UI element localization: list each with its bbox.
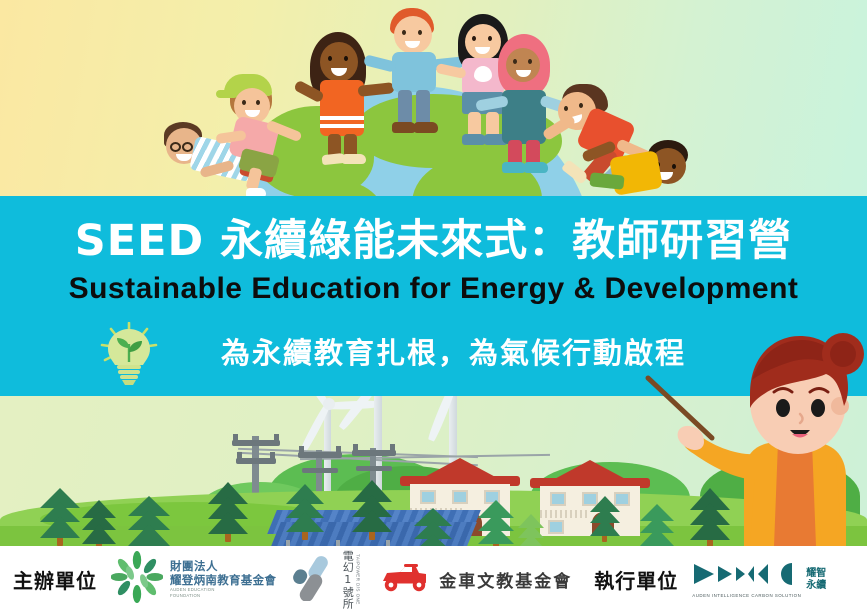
poster-root: SEED 永續綠能未來式：教師研習營 Sustainable Education… xyxy=(0,0,867,613)
foundation-line2: 耀登炳南教育基金會 xyxy=(170,574,276,588)
pine-tree xyxy=(478,500,514,546)
sponsor-footer: 主辦單位 xyxy=(0,546,867,613)
kingcar-text: 金車文教基金會 xyxy=(439,567,572,592)
foundation-english-line2: FOUNDATION xyxy=(170,593,276,599)
pine-tree xyxy=(286,484,324,538)
kingcar-foundation-logo[interactable]: 金車文教基金會 xyxy=(378,561,572,598)
page-title: SEED 永續綠能未來式：教師研習營 xyxy=(0,206,867,268)
child-boy-yellow-shirt xyxy=(612,138,732,198)
pine-tree xyxy=(208,482,248,540)
top-illustration-scene xyxy=(0,0,867,198)
page-subtitle: Sustainable Education for Energy & Devel… xyxy=(0,272,867,306)
auden-intelligence-carbon-solution-logo[interactable]: AUDEN INTELLIGENCE CARBON SOLUTION 耀智 永續 xyxy=(692,561,826,599)
pine-tree xyxy=(40,488,80,544)
taipower-dsone-logo[interactable]: 電幻1號所 TAIPOWER D/S ONE xyxy=(292,550,360,610)
executor-label: 執行單位 xyxy=(594,565,678,594)
foundation-line1: 財團法人 xyxy=(170,560,276,574)
auden-education-foundation-logo[interactable]: 財團法人 耀登炳南教育基金會 AUDEN EDUCATION FOUNDATIO… xyxy=(111,551,276,608)
taipower-english-vertical: TAIPOWER D/S ONE xyxy=(355,554,360,605)
auden-carbon-english: AUDEN INTELLIGENCE CARBON SOLUTION xyxy=(692,593,801,599)
pine-tree xyxy=(352,480,392,538)
red-vintage-car-icon xyxy=(378,561,430,598)
pine-tree xyxy=(82,500,116,546)
three-capsule-shapes-icon xyxy=(292,553,336,606)
pine-tree xyxy=(590,496,620,540)
pine-tree xyxy=(414,508,452,546)
organizer-label: 主辦單位 xyxy=(13,565,97,594)
triangle-wave-marks-icon xyxy=(692,574,796,591)
auden-carbon-chinese-line2: 永續 xyxy=(806,580,826,591)
pine-tree xyxy=(128,496,170,546)
taipower-chinese-vertical: 電幻1號所 xyxy=(341,550,353,610)
pine-tree xyxy=(518,514,544,546)
teacher-character xyxy=(640,330,867,546)
green-leaf-burst-icon xyxy=(111,551,163,608)
auden-carbon-chinese-line1: 耀智 xyxy=(806,568,826,579)
